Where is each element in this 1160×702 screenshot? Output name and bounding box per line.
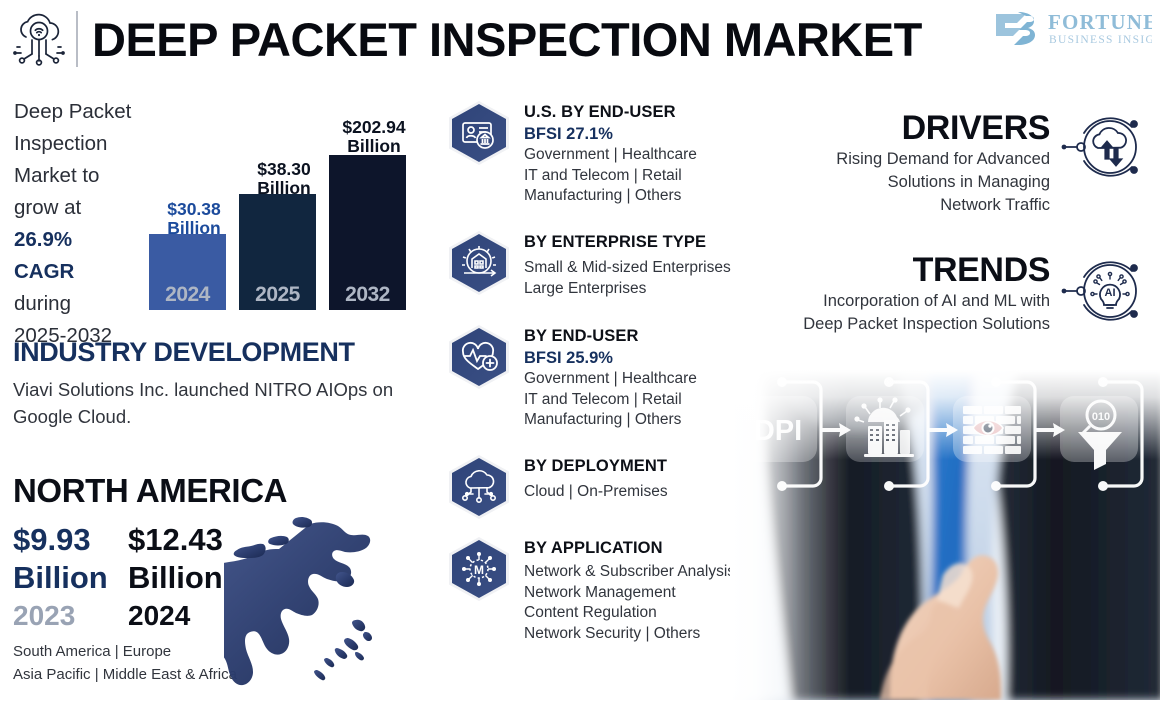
- na-unit-2023: Billion: [13, 559, 108, 597]
- bar-2032: 2032: [329, 155, 406, 310]
- drivers-block: DRIVERS Rising Demand for Advanced Solut…: [790, 108, 1050, 217]
- segment-title: BY ENTERPRISE TYPE: [524, 232, 776, 253]
- na-figure-2023: $9.93 Billion 2023: [13, 521, 108, 635]
- bar-label-2: $202.94 Billion: [319, 118, 429, 156]
- segment-by-end-user: BY END-USER BFSI 25.9% Government | Heal…: [446, 324, 776, 442]
- segment-line-2: Manufacturing | Others: [524, 186, 776, 207]
- cloud-transfer-circle-icon: [1060, 104, 1152, 190]
- gear-factory-icon: [446, 230, 512, 296]
- bar-label-1: $38.30 Billion: [229, 160, 339, 198]
- na-figure-2024: $12.43 Billion 2024: [128, 521, 223, 635]
- trends-line-1: Incorporation of AI and ML with: [790, 290, 1050, 313]
- segment-line-1: IT and Telecom | Retail: [524, 166, 776, 187]
- regions-line-1: South America | Europe: [13, 640, 237, 663]
- cloud-network-nodes-icon: [446, 454, 512, 520]
- drivers-line-3: Network Traffic: [790, 194, 1050, 217]
- na-year-2023: 2023: [13, 597, 108, 635]
- na-amount-2024: $12.43: [128, 521, 223, 559]
- bar-label-0: $30.38 Billion: [139, 200, 249, 238]
- segment-body: U.S. BY END-USER BFSI 27.1% Government |…: [524, 100, 776, 207]
- molecule-network-icon: M: [446, 536, 512, 602]
- svg-text:M: M: [474, 563, 484, 577]
- drivers-line-2: Solutions in Managing: [790, 171, 1050, 194]
- fortune-business-insights-logo: FORTUNE BUSINESS INSIGHTS: [992, 8, 1152, 50]
- publisher-name: FORTUNE: [1048, 10, 1152, 34]
- north-america-heading: NORTH AMERICA: [13, 472, 287, 510]
- segment-by-deployment: BY DEPLOYMENT Cloud | On-Premises: [446, 454, 776, 524]
- segment-line-0: Small & Mid-sized Enterprises: [524, 258, 776, 279]
- businessman-touching-dpi-flow-interface: DPI: [730, 370, 1160, 700]
- page-title: DEEP PACKET INSPECTION MARKET: [92, 12, 922, 67]
- regions-line-2: Asia Pacific | Middle East & Africa: [13, 663, 237, 686]
- bar-year-0: 2024: [149, 283, 226, 307]
- segment-title: BY END-USER: [524, 326, 776, 347]
- trends-title: TRENDS: [790, 250, 1050, 290]
- header-divider: [76, 11, 78, 67]
- trends-block: TRENDS Incorporation of AI and ML with D…: [790, 250, 1050, 336]
- segment-list: U.S. BY END-USER BFSI 27.1% Government |…: [446, 100, 776, 658]
- cloud-network-icon: [8, 9, 70, 69]
- segment-title: U.S. BY END-USER: [524, 102, 776, 123]
- segment-us-by-end-user: U.S. BY END-USER BFSI 27.1% Government |…: [446, 100, 776, 218]
- bar-year-1: 2025: [239, 283, 316, 307]
- bar-2025: 2025: [239, 194, 316, 310]
- id-card-bank-icon: [446, 100, 512, 166]
- other-regions-list: South America | Europe Asia Pacific | Mi…: [13, 640, 237, 686]
- na-amount-2023: $9.93: [13, 521, 108, 559]
- drivers-title: DRIVERS: [790, 108, 1050, 148]
- industry-development-body: Viavi Solutions Inc. launched NITRO AIOp…: [13, 376, 403, 430]
- industry-development-heading: INDUSTRY DEVELOPMENT: [13, 337, 355, 368]
- header: DEEP PACKET INSPECTION MARKET FORTUNE BU…: [0, 0, 1160, 78]
- na-unit-2024: Billion: [128, 559, 223, 597]
- bar-year-2: 2032: [329, 283, 406, 307]
- infographic-page: DEEP PACKET INSPECTION MARKET FORTUNE BU…: [0, 0, 1160, 700]
- segment-by-application: M BY APPLICATION Networ: [446, 536, 776, 646]
- market-size-bar-chart: $30.38 Billion 2024 $38.30 Billion 2025 …: [145, 110, 415, 310]
- segment-by-enterprise-type: BY ENTERPRISE TYPE Small & Mid-sized Ent…: [446, 230, 776, 312]
- publisher-sub: BUSINESS INSIGHTS: [1049, 34, 1152, 46]
- photo-fade-top: [730, 370, 1160, 460]
- north-america-map: [224, 512, 414, 697]
- segment-body: BY ENTERPRISE TYPE Small & Mid-sized Ent…: [524, 230, 776, 299]
- segment-line-1: Large Enterprises: [524, 279, 776, 300]
- drivers-line-1: Rising Demand for Advanced: [790, 148, 1050, 171]
- svg-text:AI: AI: [1105, 287, 1116, 299]
- heart-pulse-icon: [446, 324, 512, 390]
- trends-line-2: Deep Packet Inspection Solutions: [790, 313, 1050, 336]
- segment-line-0: Government | Healthcare: [524, 145, 776, 166]
- segment-highlight: BFSI 27.1%: [524, 123, 776, 145]
- bar-2024: 2024: [149, 234, 226, 310]
- segment-highlight: BFSI 25.9%: [524, 347, 776, 369]
- na-year-2024: 2024: [128, 597, 223, 635]
- ai-bulb-circle-icon: AI: [1060, 248, 1152, 334]
